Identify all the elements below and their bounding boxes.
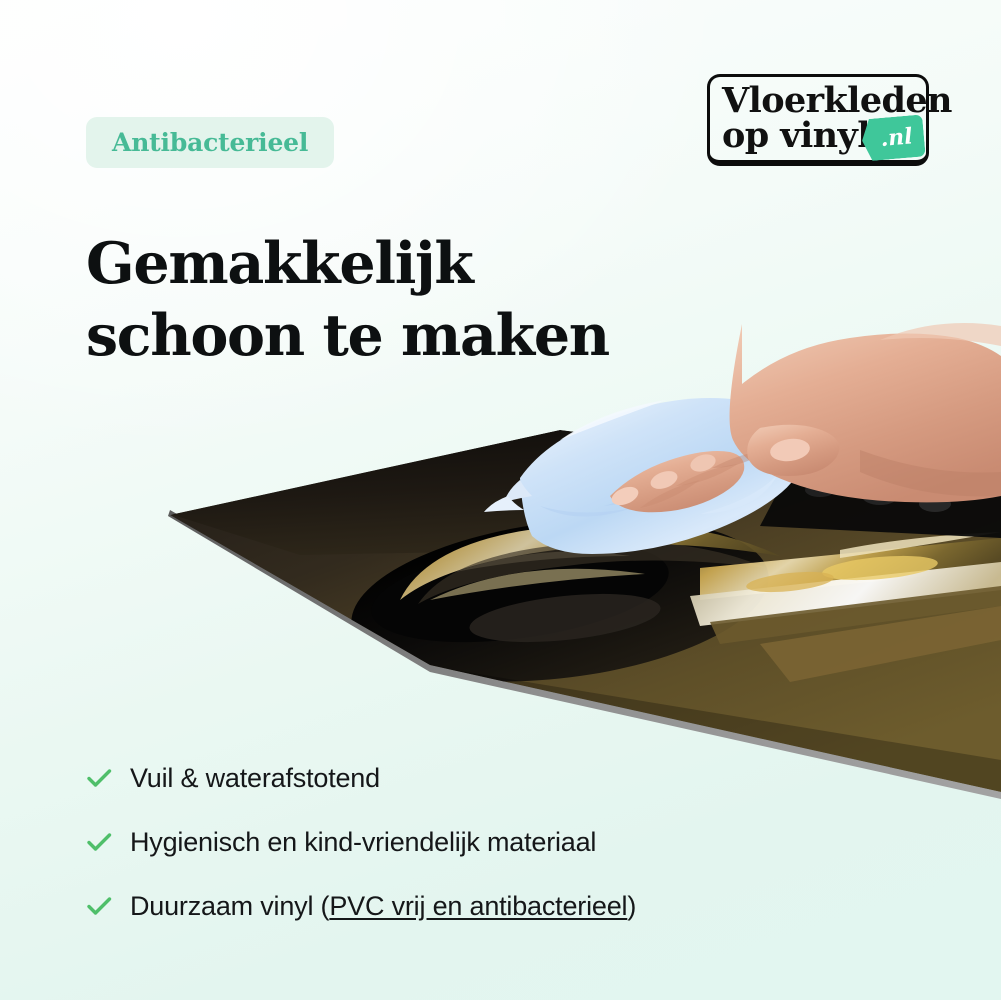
check-icon [84,891,114,921]
list-item: Duurzaam vinyl (PVC vrij en antibacterie… [84,884,914,928]
feature-label-2: Hygienisch en kind-vriendelijk materiaal [130,827,596,858]
product-photo [0,300,1001,800]
list-item: Hygienisch en kind-vriendelijk materiaal [84,820,914,864]
logo-word-op-vinyl: op vinyl [722,115,870,156]
feature-list: Vuil & waterafstotend Hygienisch en kind… [84,756,914,948]
feature-label-1: Vuil & waterafstotend [130,763,380,794]
feature-label-3-prefix: Duurzaam vinyl ( [130,891,329,921]
check-icon [84,763,114,793]
badge-label: Antibacterieel [112,128,308,157]
feature-label-3-link[interactable]: PVC vrij en antibacterieel [329,891,627,921]
feature-label-3-suffix: ) [627,891,636,921]
feature-label-3: Duurzaam vinyl (PVC vrij en antibacterie… [130,891,636,922]
marketing-banner: Antibacterieel Gemakkelijk schoon te mak… [0,0,1001,1000]
status-badge: Antibacterieel [86,117,334,168]
mat-illustration [0,300,1001,800]
list-item: Vuil & waterafstotend [84,756,914,800]
headline-line-1: Gemakkelijk [86,228,706,300]
check-icon [84,827,114,857]
logo-tld-label: .nl [861,122,925,153]
tag-shape-icon: .nl [860,114,925,161]
brand-logo[interactable]: Vloerkleden op vinyl .nl [707,74,929,166]
